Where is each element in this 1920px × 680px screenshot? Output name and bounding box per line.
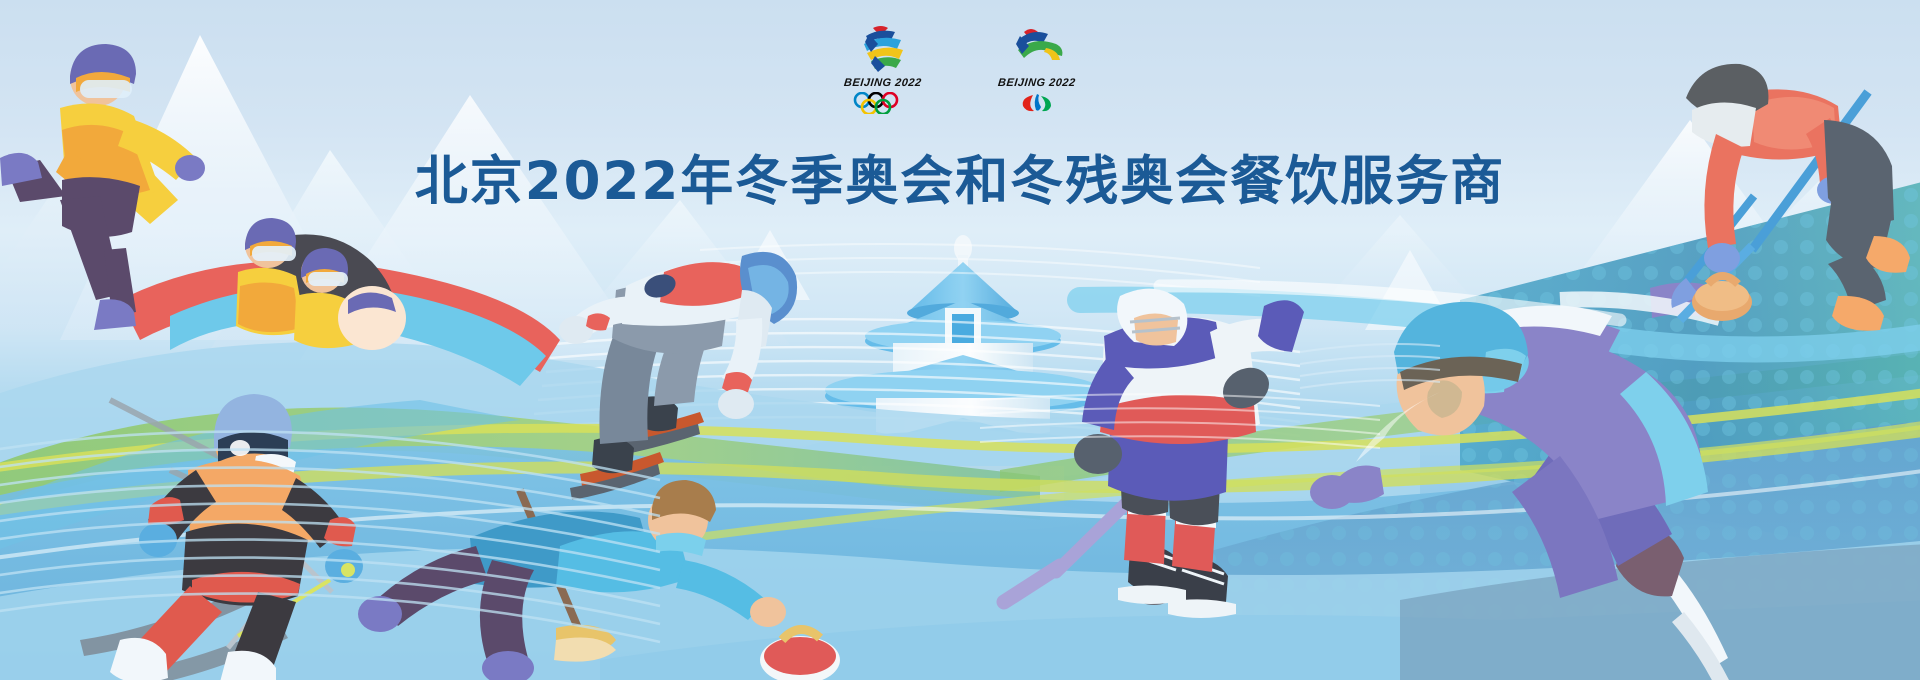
speed-line-texture-lower: [0, 0, 1920, 680]
olympic-banner: BEIJING 2022: [0, 0, 1920, 680]
